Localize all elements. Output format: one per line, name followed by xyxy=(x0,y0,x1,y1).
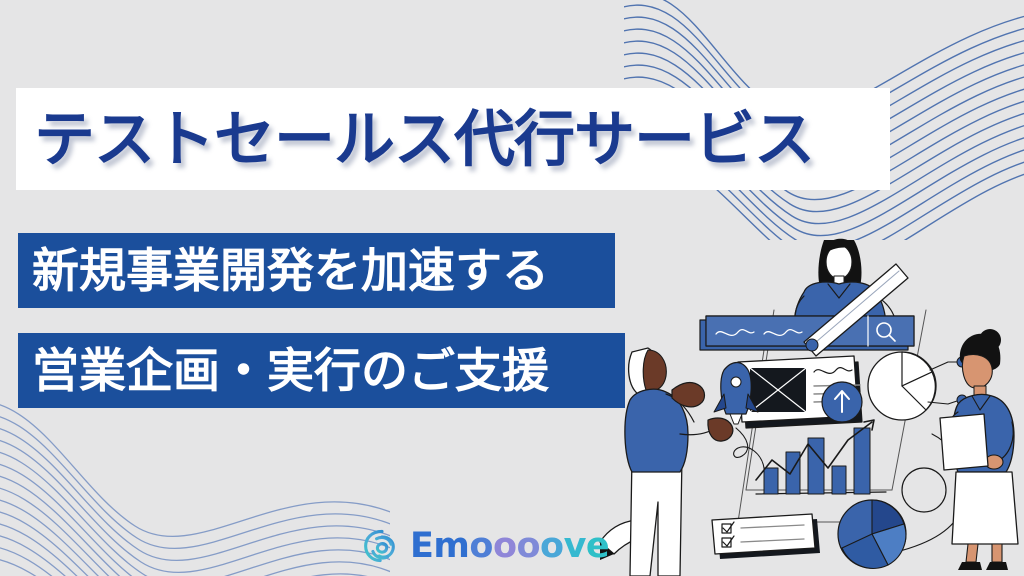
page-title: テストセールス代行サービス xyxy=(34,109,814,170)
subtitle-box-1: 新規事業開発を加速する xyxy=(18,233,615,308)
brand-logo: Emoooove xyxy=(362,524,609,568)
swirl-icon xyxy=(362,526,402,566)
pie-chart-filled xyxy=(838,500,906,568)
subtitle-text-2: 営業企画・実行のご支援 xyxy=(32,347,549,394)
logo-letter-5: o xyxy=(540,526,564,566)
subtitle-box-2: 営業企画・実行のご支援 xyxy=(18,333,625,408)
checklist-card xyxy=(712,514,820,559)
logo-letter-2: o xyxy=(469,526,493,566)
bar-chart xyxy=(756,420,886,494)
logo-wordmark: Emoooove xyxy=(410,529,609,564)
logo-letter-3: o xyxy=(493,526,517,566)
logo-letter-7: e xyxy=(586,526,609,566)
logo-letter-1: m xyxy=(433,526,469,566)
person-with-clipboard xyxy=(940,329,1018,570)
title-banner: テストセールス代行サービス xyxy=(16,88,890,190)
promo-banner: テストセールス代行サービス 新規事業開発を加速する 営業企画・実行のご支援 xyxy=(0,0,1024,576)
up-arrow-badge xyxy=(822,382,862,422)
business-analytics-illustration xyxy=(596,222,1024,576)
logo-letter-6: v xyxy=(564,526,586,566)
logo-letter-4: o xyxy=(517,526,541,566)
logo-letter-0: E xyxy=(410,526,433,566)
subtitle-text-1: 新規事業開発を加速する xyxy=(32,247,549,294)
